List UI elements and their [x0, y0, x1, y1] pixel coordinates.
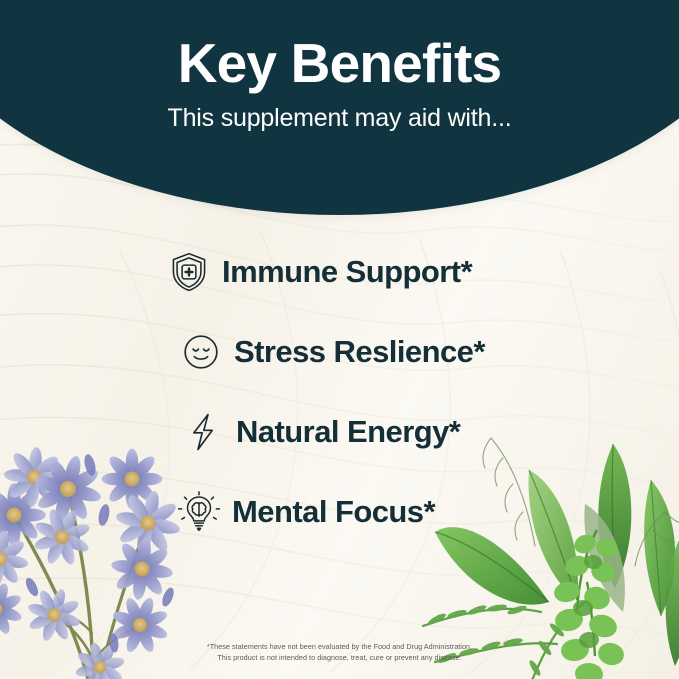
benefit-item-natural-energy: Natural Energy* [0, 392, 679, 472]
benefit-item-stress-reslience: Stress Reslience* [0, 312, 679, 392]
lightning-bolt-icon [180, 409, 226, 455]
benefit-label: Immune Support* [222, 254, 472, 290]
disclaimer-line-2: This product is not intended to diagnose… [0, 653, 679, 663]
header-text-block: Key Benefits This supplement may aid wit… [0, 34, 679, 133]
benefit-item-mental-focus: Mental Focus* [0, 472, 679, 552]
lightbulb-brain-icon [176, 489, 222, 535]
benefits-list: Immune Support* Stress Reslience* Natura… [0, 232, 679, 552]
shield-cross-icon [166, 249, 212, 295]
benefit-label: Mental Focus* [232, 494, 435, 530]
smiley-face-icon [178, 329, 224, 375]
key-benefits-graphic: Key Benefits This supplement may aid wit… [0, 0, 679, 679]
benefit-label: Stress Reslience* [234, 334, 485, 370]
fda-disclaimer: *These statements have not been evaluate… [0, 642, 679, 663]
page-subtitle: This supplement may aid with... [0, 104, 679, 133]
disclaimer-line-1: *These statements have not been evaluate… [0, 642, 679, 652]
page-title: Key Benefits [0, 34, 679, 92]
benefit-item-immune-support: Immune Support* [0, 232, 679, 312]
benefit-label: Natural Energy* [236, 414, 460, 450]
